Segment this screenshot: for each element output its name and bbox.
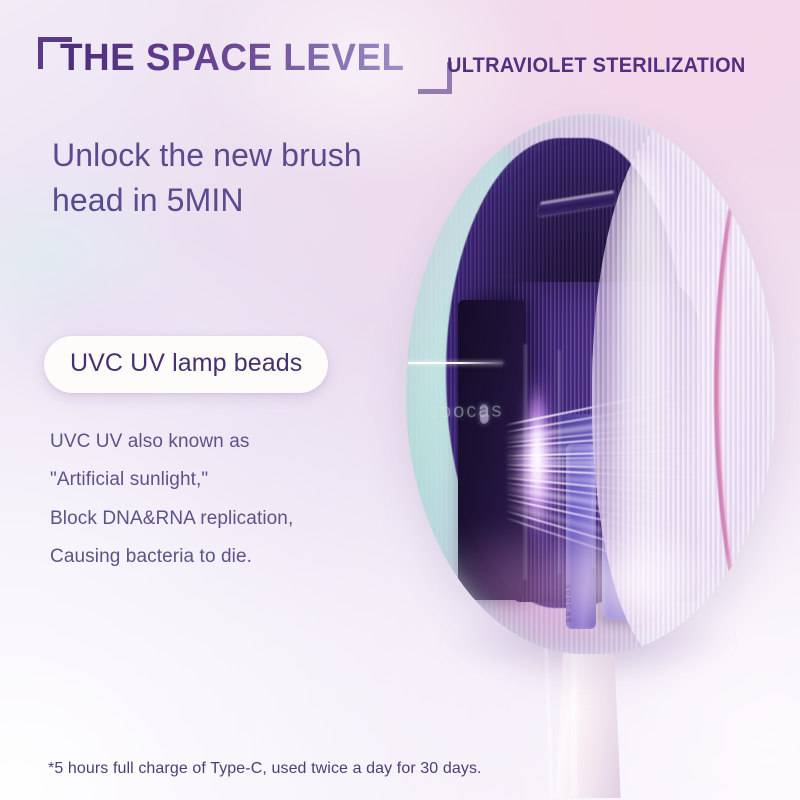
page-title: THE SPACE LEVEL [60,39,405,77]
product-device-illustration: soocas soocas [398,108,800,798]
footnote: *5 hours full charge of Type-C, used twi… [48,760,482,778]
product-banner: soocas soocas [0,0,800,800]
headline: Unlock the new brush head in 5MIN [52,133,452,224]
body-copy-line: UVC UV also known as [50,423,390,461]
feature-badge[interactable]: UVC UV lamp beads [44,336,328,393]
badge-leader-line [408,362,503,364]
device-outer-shell: soocas soocas [406,114,776,654]
body-copy-line: "Artificial sunlight," [50,461,390,499]
body-copy-line: Block DNA&RNA replication, [50,500,390,538]
shell-edge-light [406,114,776,654]
headline-line-1: Unlock the new brush [52,133,452,178]
header: THE SPACE LEVEL ULTRAVIOLET STERILIZATIO… [0,0,800,115]
body-copy-line: Causing bacteria to die. [50,538,390,576]
page-subtitle: ULTRAVIOLET STERILIZATION [447,54,746,78]
headline-line-2: head in 5MIN [52,178,452,223]
feature-badge-label: UVC UV lamp beads [70,349,302,377]
body-copy: UVC UV also known as "Artificial sunligh… [50,423,390,577]
